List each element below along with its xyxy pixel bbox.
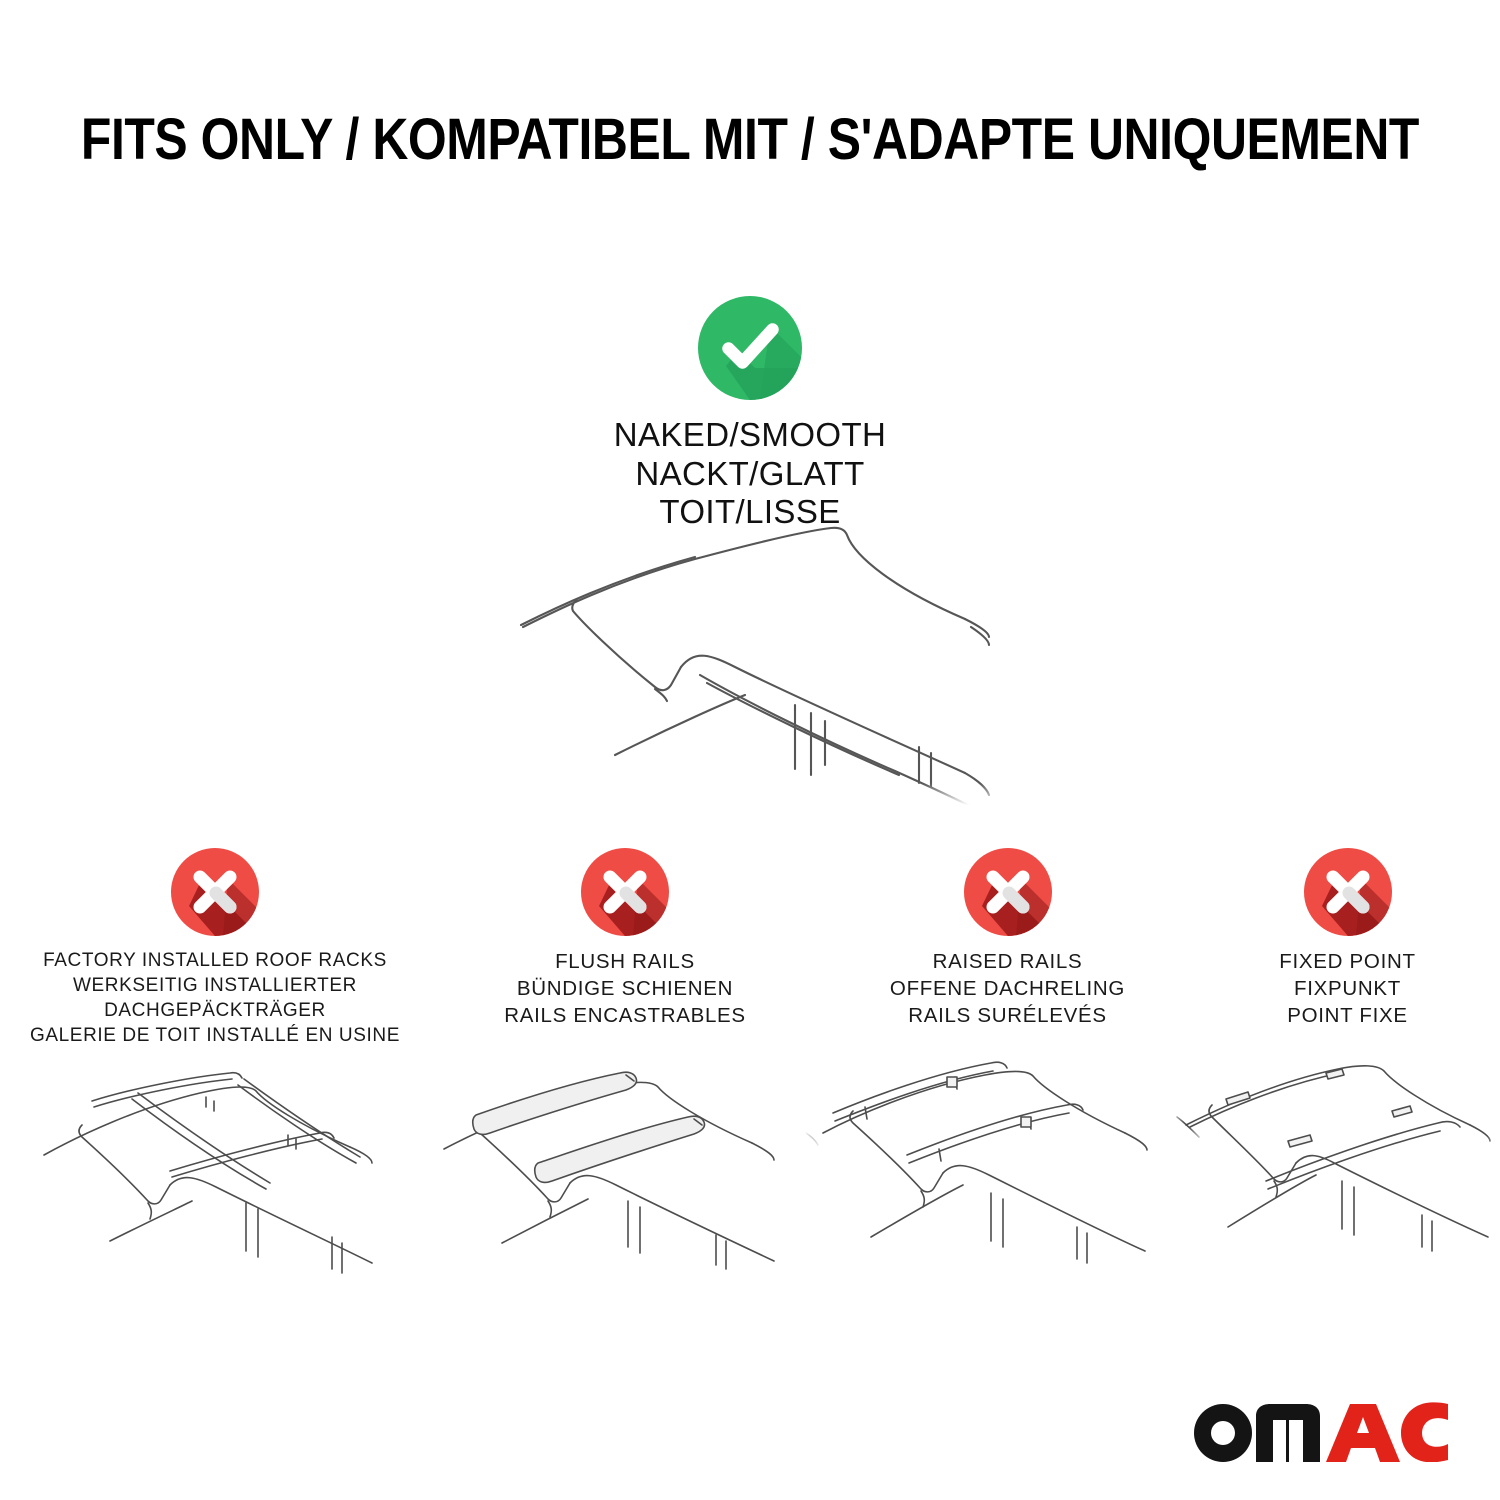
x-circle-icon xyxy=(1304,848,1392,936)
smooth-roof-illustration xyxy=(495,515,1025,805)
omac-logo xyxy=(1190,1400,1448,1462)
logo-letter-a xyxy=(1326,1404,1400,1462)
page-title-text: FITS ONLY / KOMPATIBEL MIT / S'ADAPTE UN… xyxy=(81,111,1419,169)
excluded-label-line-1: FACTORY INSTALLED ROOF RACKS xyxy=(30,948,400,973)
excluded-label-line-1: FIXED POINT xyxy=(1279,948,1415,975)
excluded-item-fixed-point: FIXED POINT FIXPUNKT POINT FIXE xyxy=(1195,848,1500,1029)
excluded-label-group: FIXED POINT FIXPUNKT POINT FIXE xyxy=(1279,948,1415,1029)
excluded-label-line-2: WERKSEITIG INSTALLIERTER xyxy=(30,973,400,998)
excluded-item-raised-rails: RAISED RAILS OFFENE DACHRELING RAILS SUR… xyxy=(820,848,1195,1029)
x-circle-icon xyxy=(171,848,259,936)
excluded-label-group: RAISED RAILS OFFENE DACHRELING RAILS SUR… xyxy=(890,948,1125,1029)
excluded-label-line-1: FLUSH RAILS xyxy=(504,948,746,975)
excluded-label-group: FACTORY INSTALLED ROOF RACKS WERKSEITIG … xyxy=(30,948,400,1048)
fitment-excluded-section: FACTORY INSTALLED ROOF RACKS WERKSEITIG … xyxy=(0,848,1500,1048)
excluded-item-factory-roof-racks: FACTORY INSTALLED ROOF RACKS WERKSEITIG … xyxy=(0,848,430,1048)
allowed-label-line-1: NAKED/SMOOTH xyxy=(614,416,887,455)
excluded-label-line-3: RAILS ENCASTRABLES xyxy=(504,1002,746,1029)
flush-rails-illustration xyxy=(420,1055,820,1295)
excluded-label-line-3: RAILS SURÉLEVÉS xyxy=(890,1002,1125,1029)
excluded-label-group: FLUSH RAILS BÜNDIGE SCHIENEN RAILS ENCAS… xyxy=(504,948,746,1029)
excluded-label-line-3: POINT FIXE xyxy=(1279,1002,1415,1029)
logo-letter-m xyxy=(1256,1404,1320,1462)
excluded-label-line-2: BÜNDIGE SCHIENEN xyxy=(504,975,746,1002)
excluded-label-line-3: DACHGEPÄCKTRÄGER xyxy=(30,998,400,1023)
allowed-label-line-2: NACKT/GLATT xyxy=(614,455,887,494)
excluded-label-line-4: GALERIE DE TOIT INSTALLÉ EN USINE xyxy=(30,1023,400,1048)
raised-rails-illustration xyxy=(805,1055,1205,1295)
x-circle-icon xyxy=(581,848,669,936)
fixed-point-illustration xyxy=(1170,1055,1500,1295)
logo-letter-o xyxy=(1194,1404,1252,1462)
factory-roof-rack-illustration xyxy=(20,1055,420,1295)
excluded-label-line-2: FIXPUNKT xyxy=(1279,975,1415,1002)
page-title: FITS ONLY / KOMPATIBEL MIT / S'ADAPTE UN… xyxy=(0,104,1500,176)
fitment-allowed-section: NAKED/SMOOTH NACKT/GLATT TOIT/LISSE xyxy=(0,296,1500,532)
x-circle-icon xyxy=(964,848,1052,936)
check-circle-icon xyxy=(698,296,802,400)
roof-illustrations-row xyxy=(0,1055,1500,1295)
excluded-item-flush-rails: FLUSH RAILS BÜNDIGE SCHIENEN RAILS ENCAS… xyxy=(430,848,820,1029)
excluded-label-line-1: RAISED RAILS xyxy=(890,948,1125,975)
logo-letter-c xyxy=(1401,1402,1448,1462)
excluded-label-line-2: OFFENE DACHRELING xyxy=(890,975,1125,1002)
